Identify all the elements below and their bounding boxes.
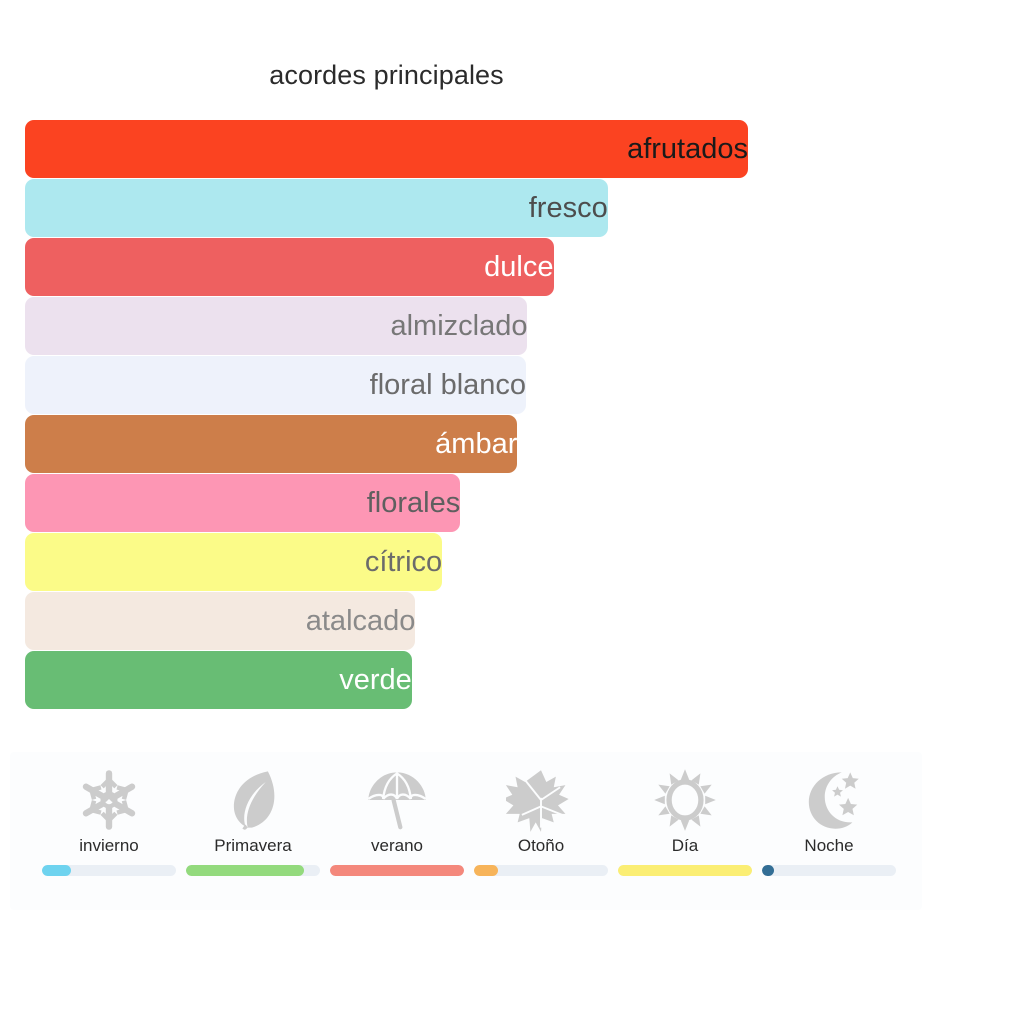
bar-row[interactable]: afrutados bbox=[25, 120, 1005, 179]
bar-label: afrutados bbox=[627, 135, 748, 164]
bar-label: almizclado bbox=[390, 312, 527, 341]
bar-row[interactable]: ámbar bbox=[25, 415, 1005, 474]
season-progress-fill bbox=[618, 865, 752, 876]
season-progress-fill bbox=[474, 865, 498, 876]
sun-icon bbox=[650, 766, 720, 834]
main-accords-bar-chart: afrutadosfrescodulcealmizcladofloral bla… bbox=[25, 120, 1005, 710]
bar-atalcado[interactable]: atalcado bbox=[25, 592, 415, 650]
season-progress-track[interactable] bbox=[330, 865, 464, 876]
season-progress-track[interactable] bbox=[762, 865, 896, 876]
season-progress-fill bbox=[42, 865, 71, 876]
fragrance-notes-widget: acordes principales afrutadosfrescodulce… bbox=[0, 0, 1024, 1024]
bar-row[interactable]: florales bbox=[25, 474, 1005, 533]
seasons-row: inviernoPrimaveraveranoOtoñoDíaNoche bbox=[10, 752, 922, 910]
bar-label: florales bbox=[367, 489, 461, 518]
season-progress-track[interactable] bbox=[474, 865, 608, 876]
bar-verde[interactable]: verde bbox=[25, 651, 412, 709]
season-cell-primavera[interactable]: Primavera bbox=[182, 766, 324, 876]
season-cell-verano[interactable]: verano bbox=[326, 766, 468, 876]
bar-cítrico[interactable]: cítrico bbox=[25, 533, 442, 591]
bar-floral-blanco[interactable]: floral blanco bbox=[25, 356, 526, 414]
page-title: acordes principales bbox=[25, 58, 748, 92]
season-label: invierno bbox=[79, 836, 139, 856]
bar-row[interactable]: almizclado bbox=[25, 297, 1005, 356]
bar-row[interactable]: atalcado bbox=[25, 592, 1005, 651]
season-progress-track[interactable] bbox=[186, 865, 320, 876]
snowflake-icon bbox=[74, 766, 144, 834]
bar-label: verde bbox=[339, 666, 412, 695]
bar-almizclado[interactable]: almizclado bbox=[25, 297, 527, 355]
bar-row[interactable]: cítrico bbox=[25, 533, 1005, 592]
season-label: Día bbox=[672, 836, 698, 856]
bar-label: dulce bbox=[484, 253, 553, 282]
maple-leaf-icon bbox=[506, 766, 576, 834]
bar-dulce[interactable]: dulce bbox=[25, 238, 554, 296]
season-label: Otoño bbox=[518, 836, 564, 856]
season-progress-track[interactable] bbox=[618, 865, 752, 876]
moon-icon bbox=[794, 766, 864, 834]
season-progress-fill bbox=[762, 865, 774, 876]
bar-florales[interactable]: florales bbox=[25, 474, 460, 532]
season-cell-invierno[interactable]: invierno bbox=[38, 766, 180, 876]
bar-fresco[interactable]: fresco bbox=[25, 179, 608, 237]
seasons-panel: inviernoPrimaveraveranoOtoñoDíaNoche bbox=[10, 752, 922, 910]
season-cell-otoño[interactable]: Otoño bbox=[470, 766, 612, 876]
umbrella-icon bbox=[362, 766, 432, 834]
season-progress-track[interactable] bbox=[42, 865, 176, 876]
season-cell-día[interactable]: Día bbox=[614, 766, 756, 876]
season-progress-fill bbox=[330, 865, 464, 876]
bar-label: floral blanco bbox=[370, 371, 526, 400]
season-cell-noche[interactable]: Noche bbox=[758, 766, 900, 876]
season-progress-fill bbox=[186, 865, 304, 876]
bar-row[interactable]: dulce bbox=[25, 238, 1005, 297]
season-label: Noche bbox=[804, 836, 853, 856]
bar-label: cítrico bbox=[365, 548, 442, 577]
bar-row[interactable]: floral blanco bbox=[25, 356, 1005, 415]
bar-label: atalcado bbox=[306, 607, 416, 636]
bar-afrutados[interactable]: afrutados bbox=[25, 120, 748, 178]
season-label: verano bbox=[371, 836, 423, 856]
bar-label: ámbar bbox=[435, 430, 517, 459]
bar-row[interactable]: fresco bbox=[25, 179, 1005, 238]
season-label: Primavera bbox=[214, 836, 291, 856]
bar-row[interactable]: verde bbox=[25, 651, 1005, 710]
bar-ámbar[interactable]: ámbar bbox=[25, 415, 517, 473]
bar-label: fresco bbox=[529, 194, 608, 223]
leaf-icon bbox=[218, 766, 288, 834]
